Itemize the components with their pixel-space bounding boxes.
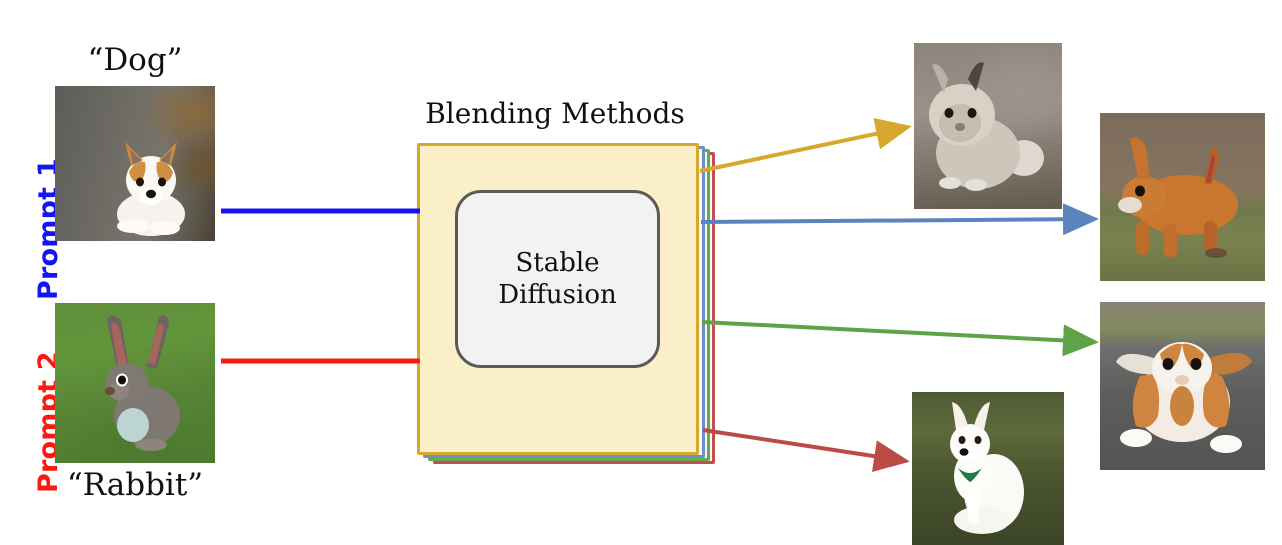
input-caption-rabbit: “Rabbit” bbox=[55, 467, 215, 503]
fluffy-gray-rabbit-illustration bbox=[914, 43, 1062, 209]
stable-diffusion-box[interactable]: Stable Diffusion bbox=[455, 190, 660, 368]
blending-methods-title: Blending Methods bbox=[390, 97, 720, 130]
lop-eared-rabbit-illustration bbox=[1100, 302, 1265, 470]
figure-canvas: Prompt 1 Prompt 2 “Dog” bbox=[0, 0, 1282, 545]
arrow-red-output bbox=[703, 430, 906, 461]
stable-diffusion-label-line2: Diffusion bbox=[498, 279, 616, 312]
input-image-rabbit bbox=[55, 303, 215, 463]
input-image-dog bbox=[55, 86, 215, 241]
arrow-blue-output bbox=[701, 219, 1095, 222]
arrow-yellow-output bbox=[700, 127, 908, 171]
output-image-lop-eared-rabbit bbox=[1100, 302, 1265, 470]
output-image-orange-rabbit-dog bbox=[1100, 113, 1265, 281]
arrow-green-output bbox=[702, 322, 1095, 342]
white-dog-illustration bbox=[912, 392, 1064, 545]
gray-rabbit-illustration bbox=[55, 303, 215, 463]
stable-diffusion-label-line1: Stable bbox=[515, 247, 599, 280]
input-caption-dog: “Dog” bbox=[55, 42, 215, 78]
output-image-white-dog bbox=[912, 392, 1064, 545]
output-image-fluffy-gray-rabbit bbox=[914, 43, 1062, 209]
orange-rabbit-dog-illustration bbox=[1100, 113, 1265, 281]
corgi-dog-illustration bbox=[55, 86, 215, 241]
